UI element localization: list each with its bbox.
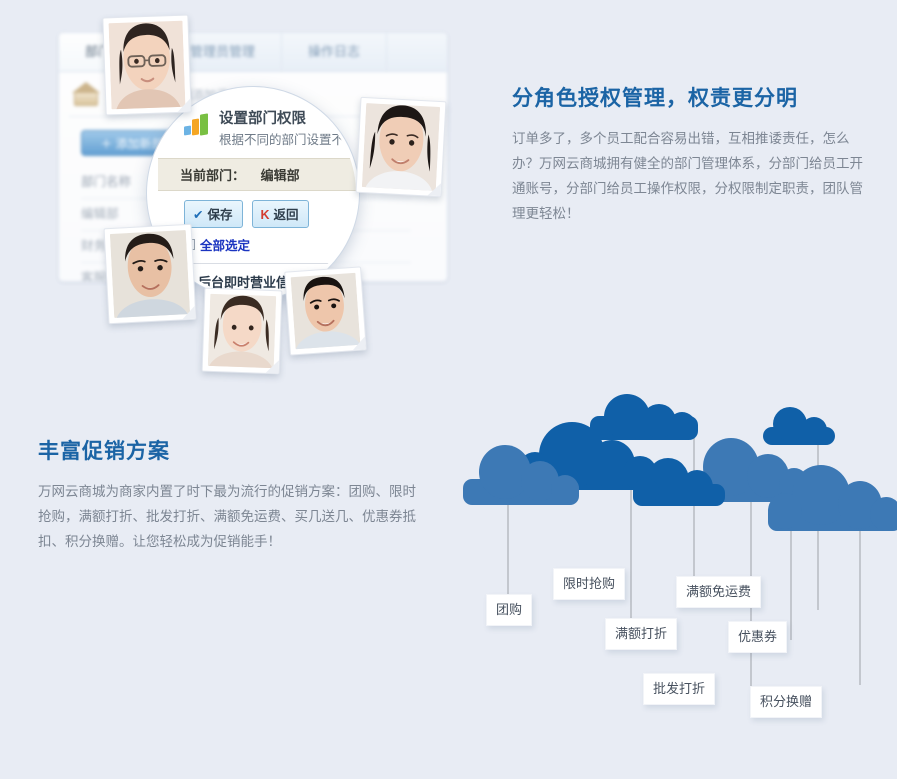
stem-line [859, 520, 861, 685]
back-button-label: 返回 [274, 208, 299, 222]
section-promotions: 丰富促销方案 万网云商城为商家内置了时下最为流行的促销方案：团购、限时抢购，满额… [0, 380, 897, 779]
dialog-title: 设置部门权限 [219, 110, 359, 128]
back-button[interactable]: K返回 [252, 200, 309, 228]
tag-youhuijuan[interactable]: 优惠券 [728, 621, 787, 653]
tag-pifadazhe[interactable]: 批发打折 [643, 673, 715, 705]
stem-line [630, 480, 632, 640]
section-role-permissions: 部门管理 管理员管理 操作日志 如果需要为店铺添加子... ＋ 添加新部门 [0, 0, 897, 380]
tab-label: 操作日志 [308, 44, 360, 59]
avatar [110, 230, 190, 318]
promotions-copy: 丰富促销方案 万网云商城为商家内置了时下最为流行的促销方案：团购、限时抢购，满额… [38, 435, 418, 554]
check-icon: ✔ [193, 208, 203, 222]
feature-description: 订单多了，多个员工配合容易出错，互相推诿责任，怎么办？万网云商城拥有健全的部门管… [512, 126, 872, 226]
dialog-subtitle: 根据不同的部门设置不同的权 [219, 131, 359, 150]
page-title: 丰富促销方案 [38, 435, 418, 465]
bar-chart-icon [184, 113, 210, 137]
avatar [362, 103, 440, 191]
photo-man-young [284, 266, 367, 355]
feature-description: 万网云商城为商家内置了时下最为流行的促销方案：团购、限时抢购，满额打折、批发打折… [38, 479, 418, 554]
photo-woman-smiling [356, 97, 447, 197]
photo-woman-young [202, 288, 283, 375]
lens-header-text: 设置部门权限 根据不同的部门设置不同的权 [219, 110, 359, 150]
home-icon [73, 82, 99, 106]
dialog-actions: ✔保存 K返回 [158, 191, 359, 228]
select-all-label: 全部选定 [200, 235, 250, 254]
avatar [208, 294, 276, 368]
current-department-label: 当前部门： [180, 168, 245, 183]
tab-operation-log[interactable]: 操作日志 [282, 33, 387, 71]
cloud-diagram: 团购 限时抢购 满额打折 批发打折 满额免运费 优惠券 积分换赠 [445, 390, 875, 740]
save-button[interactable]: ✔保存 [184, 200, 243, 228]
tag-xianshi[interactable]: 限时抢购 [553, 568, 625, 600]
avatar [109, 21, 186, 110]
tag-manedadazhe[interactable]: 满额打折 [605, 618, 677, 650]
current-department-bar: 当前部门： 编辑部 [158, 158, 359, 191]
page-title: 分角色授权管理，权责更分明 [512, 82, 872, 112]
save-button-label: 保存 [207, 208, 232, 222]
tag-mianyunfei[interactable]: 满额免运费 [676, 576, 761, 608]
page-root: 部门管理 管理员管理 操作日志 如果需要为店铺添加子... ＋ 添加新部门 [0, 0, 897, 779]
k-icon: K [261, 208, 270, 222]
tag-tuangou[interactable]: 团购 [486, 594, 532, 626]
tag-jifenhuanzeng[interactable]: 积分换赠 [750, 686, 822, 718]
tab-label: 管理员管理 [190, 44, 255, 59]
photo-woman-glasses [102, 15, 191, 116]
avatar [291, 273, 361, 349]
current-department-value: 编辑部 [261, 168, 300, 183]
role-permissions-copy: 分角色授权管理，权责更分明 订单多了，多个员工配合容易出错，互相推诿责任，怎么办… [512, 82, 872, 226]
photo-man-suit [104, 224, 197, 324]
